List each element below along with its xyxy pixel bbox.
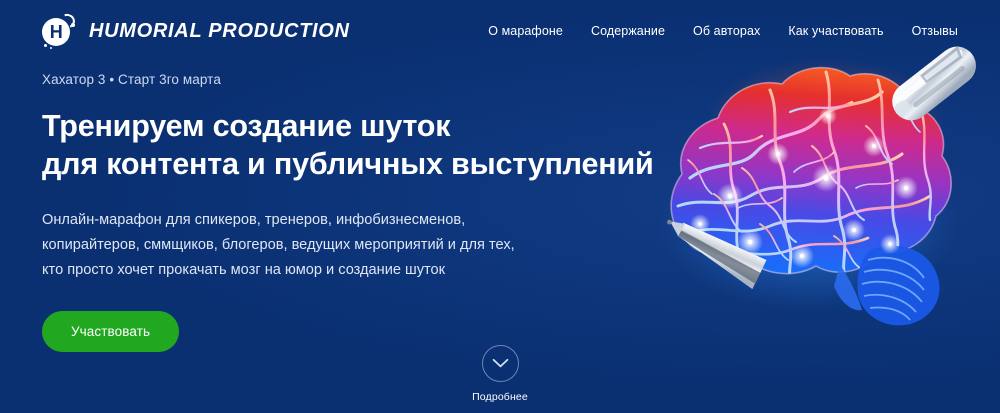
main-navigation: О марафоне Содержание Об авторах Как уча… [488, 24, 958, 38]
hero-content: Хахатор 3 • Старт 3го марта Тренируем со… [42, 72, 682, 352]
logo-letter: H [50, 23, 63, 41]
chevron-down-icon[interactable] [482, 345, 519, 382]
hero-eyebrow: Хахатор 3 • Старт 3го марта [42, 72, 682, 87]
nav-item-content[interactable]: Содержание [591, 24, 665, 38]
site-header: H HUMORIAL PRODUCTION О марафоне Содержа… [0, 0, 1000, 62]
nav-item-about-marathon[interactable]: О марафоне [488, 24, 563, 38]
glowing-brain-illustration [630, 28, 1000, 388]
logo-spark-icon [71, 23, 75, 27]
nav-item-about-authors[interactable]: Об авторах [693, 24, 760, 38]
bomb-logo-icon: H [42, 14, 76, 48]
hero-headline: Тренируем создание шуток для контента и … [42, 107, 682, 183]
scroll-hint-label: Подробнее [472, 391, 528, 403]
logo-dot-large [44, 44, 47, 47]
brand-name: HUMORIAL PRODUCTION [89, 20, 350, 43]
nav-item-how-to-join[interactable]: Как участвовать [788, 24, 883, 38]
brand-logo[interactable]: H HUMORIAL PRODUCTION [42, 14, 350, 48]
scroll-down-hint[interactable]: Подробнее [0, 345, 1000, 403]
logo-dot-small [50, 47, 52, 49]
hero-subcopy: Онлайн-марафон для спикеров, тренеров, и… [42, 208, 682, 283]
hero-section: H HUMORIAL PRODUCTION О марафоне Содержа… [0, 0, 1000, 413]
nav-item-reviews[interactable]: Отзывы [912, 24, 958, 38]
